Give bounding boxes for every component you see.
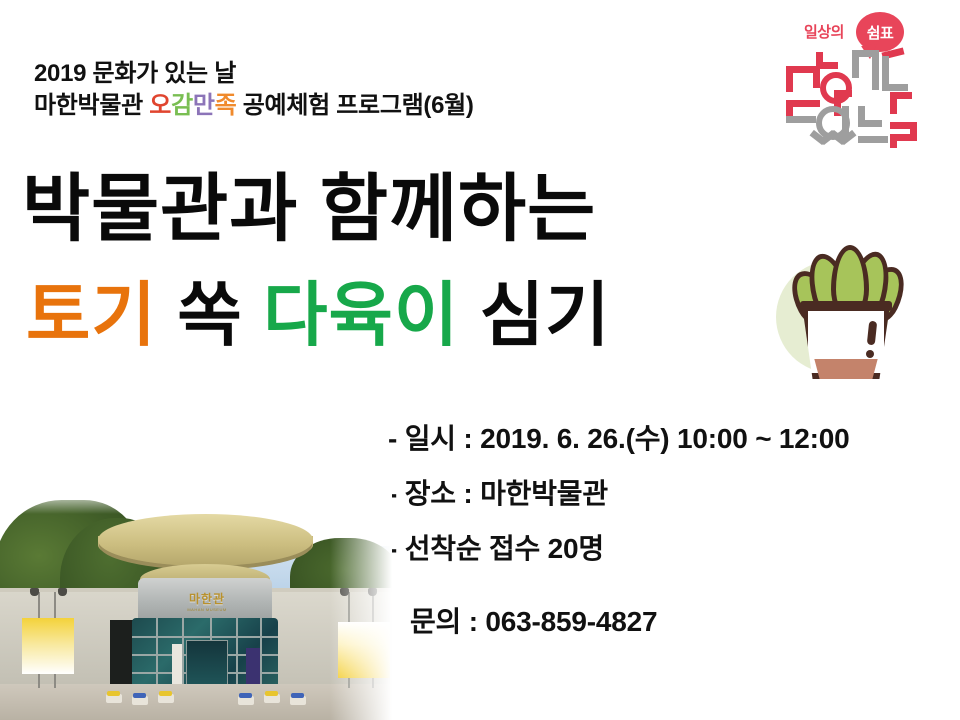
photo-lamp-head [58, 588, 67, 596]
photo-planter-flowers [133, 693, 146, 698]
logo-bubble-text: 쉼표 [856, 22, 904, 43]
photo-yellow-banner-left-2 [48, 618, 74, 674]
photo-planter-flowers [239, 693, 252, 698]
photo-mullion [132, 636, 278, 638]
header-line-2: 마한박물관 오감만족 공예체험 프로그램(6월) [34, 90, 634, 122]
culture-day-logo: 일상의 쉼표 [786, 6, 956, 171]
pot-base [813, 359, 879, 379]
photo-right-fade [330, 488, 392, 720]
photo-planter-flowers [265, 691, 278, 696]
detail-item-datetime: - 일시 : 2019. 6. 26.(수) 10:00 ~ 12:00 [388, 424, 960, 455]
header-line-2-prefix: 마한박물관 [34, 92, 149, 119]
photo-planter-flowers [107, 691, 120, 696]
poster-canvas: 2019 문화가 있는 날 마한박물관 오감만족 공예체험 프로그램(6월) 일… [0, 0, 960, 720]
details-list: - 일시 : 2019. 6. 26.(수) 10:00 ~ 12:00 - 장… [388, 424, 960, 588]
photo-info-kiosk [246, 648, 260, 688]
page-title-line-1: 박물관과 함께하는 [22, 172, 596, 246]
header-line-1: 2019 문화가 있는 날 [34, 58, 634, 90]
page-title-line-2: 토기 쏙 다육이 심기 [26, 280, 611, 350]
detail-item-contact: 문의 : 063-859-4827 [410, 600, 657, 640]
title-part-ssok: 쏙 [157, 276, 263, 354]
header-block: 2019 문화가 있는 날 마한박물관 오감만족 공예체험 프로그램(6월) [34, 58, 634, 123]
detail-item-venue: - 장소 : 마한박물관 [388, 479, 960, 510]
photo-museum-sign: 마한관 MAHAN MUSEUM [168, 590, 246, 606]
header-highlight-char-3: 만 [193, 92, 215, 119]
title-part-togi: 토기 [26, 276, 157, 354]
photo-planter-flowers [159, 691, 172, 696]
detail-item-capacity: - 선착순 접수 20명 [388, 534, 960, 565]
header-highlight-char-1: 오 [149, 92, 171, 119]
header-line-2-suffix: 공예체험 프로그램(6월) [236, 92, 473, 119]
succulent-pot-icon [776, 243, 914, 383]
header-highlight-char-2: 감 [171, 92, 193, 119]
logo-wordmark [786, 50, 956, 170]
header-highlight-char-4: 족 [215, 92, 237, 119]
logo-tagline-text: 일상의 [804, 21, 844, 42]
photo-sign-english: MAHAN MUSEUM [168, 607, 246, 612]
photo-yellow-banner-left [22, 618, 48, 674]
photo-standing-banner [172, 644, 182, 688]
pot-mark-dot [866, 350, 874, 358]
photo-lamp-head [30, 588, 39, 596]
photo-planter-flowers [291, 693, 304, 698]
photo-oval-roof [98, 514, 313, 566]
photo-sign-korean: 마한관 [168, 590, 246, 607]
mahan-museum-photo: 마한관 MAHAN MUSEUM [0, 488, 392, 720]
title-part-simgi: 심기 [459, 276, 610, 354]
title-part-dayugi: 다육이 [263, 276, 459, 354]
photo-entrance-door [186, 640, 228, 690]
